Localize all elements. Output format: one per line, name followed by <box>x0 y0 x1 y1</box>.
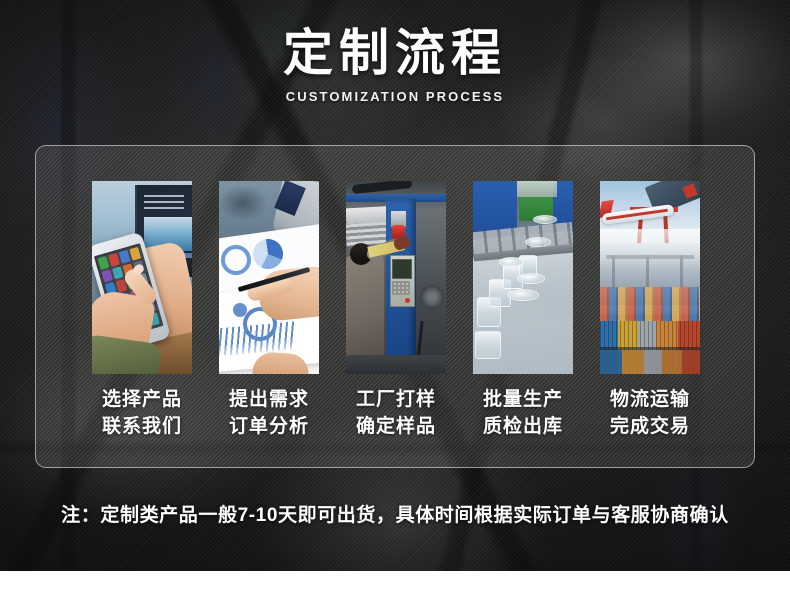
step-caption-line-2: 完成交易 <box>610 414 690 441</box>
documents-with-pen-illustration <box>219 181 319 374</box>
step-caption: 物流运输 完成交易 <box>610 387 690 441</box>
step-caption: 选择产品 联系我们 <box>102 387 182 441</box>
step-caption-line-2: 联系我们 <box>102 414 182 441</box>
step-thumbnail-factory-sampling <box>346 181 446 374</box>
step-caption-line-1: 提出需求 <box>229 387 309 414</box>
step-caption-line-1: 批量生产 <box>483 387 563 414</box>
process-steps-list: 选择产品 联系我们 <box>36 146 756 469</box>
step-thumbnail-mass-production <box>473 181 573 374</box>
banner-header: 定制流程 CUSTOMIZATION PROCESS <box>0 24 790 104</box>
process-panel: 选择产品 联系我们 <box>35 145 755 468</box>
process-step[interactable]: 批量生产 质检出库 <box>473 181 573 441</box>
process-step[interactable]: 工厂打样 确定样品 <box>346 181 446 441</box>
conveyor-line-illustration <box>473 181 573 374</box>
page-title: 定制流程 <box>0 24 790 83</box>
step-thumbnail-logistics <box>600 181 700 374</box>
footer-note: 注：定制类产品一般7-10天即可出货，具体时间根据实际订单与客服协商确认 <box>0 500 790 527</box>
process-step[interactable]: 选择产品 联系我们 <box>92 181 192 441</box>
factory-machine-operator-illustration <box>346 181 446 374</box>
step-thumbnail-requirement-analysis <box>219 181 319 374</box>
step-caption: 提出需求 订单分析 <box>229 387 309 441</box>
step-caption: 批量生产 质检出库 <box>483 387 563 441</box>
step-caption-line-1: 选择产品 <box>102 387 182 414</box>
step-caption-line-2: 质检出库 <box>483 414 563 441</box>
page-subtitle: CUSTOMIZATION PROCESS <box>0 89 790 104</box>
step-caption: 工厂打样 确定样品 <box>356 387 436 441</box>
process-step[interactable]: 物流运输 完成交易 <box>600 181 700 441</box>
step-thumbnail-select-product <box>92 181 192 374</box>
customization-process-banner: 定制流程 CUSTOMIZATION PROCESS <box>0 0 790 589</box>
step-caption-line-2: 确定样品 <box>356 414 436 441</box>
logistics-collage-illustration <box>600 181 700 374</box>
step-caption-line-1: 物流运输 <box>610 387 690 414</box>
step-caption-line-2: 订单分析 <box>229 414 309 441</box>
process-step[interactable]: 提出需求 订单分析 <box>219 181 319 441</box>
step-caption-line-1: 工厂打样 <box>356 387 436 414</box>
phone-in-hand-illustration <box>92 181 192 374</box>
